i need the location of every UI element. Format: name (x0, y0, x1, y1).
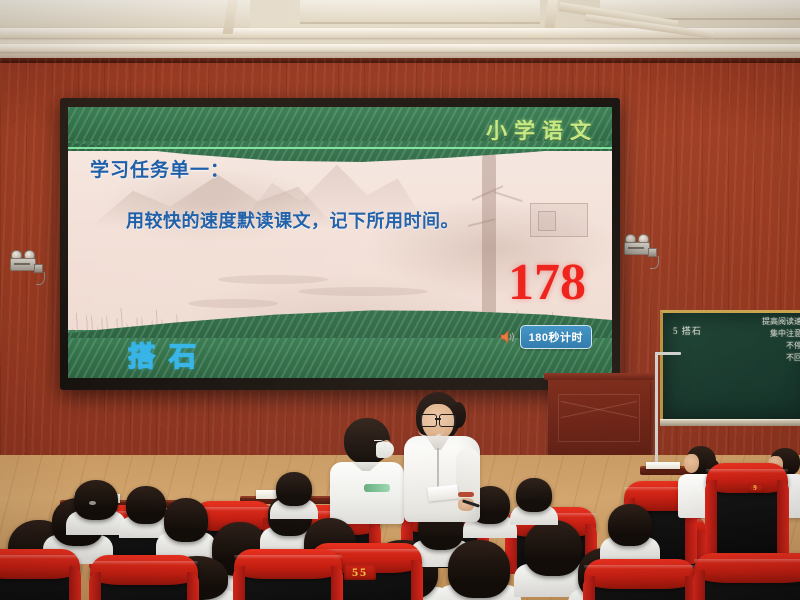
seat-highlight (706, 469, 788, 473)
seat-rim (584, 559, 696, 589)
seat-rim (694, 553, 800, 583)
slide-subject-title: 小学语文 (486, 115, 598, 145)
seat-side (583, 576, 595, 600)
emergency-light-left (8, 246, 42, 280)
audience-student-head (74, 480, 118, 520)
slide-task-body: 用较快的速度默读课文，记下所用时间。 (126, 207, 594, 233)
blackboard-note: 不停读 (786, 340, 800, 351)
emergency-light-body (624, 242, 650, 255)
auditorium-seat[interactable] (700, 560, 800, 600)
student-shirt (330, 462, 404, 524)
auditorium-seat[interactable] (0, 556, 74, 600)
auditorium-seat[interactable] (240, 556, 336, 600)
seat-highlight (234, 555, 342, 559)
blackboard-lesson-label: 5 搭石 (673, 326, 702, 337)
seat-side (69, 566, 81, 600)
ink-cloud-art (218, 275, 328, 284)
speaker-icon (500, 329, 516, 345)
seat-side (233, 566, 245, 600)
audience-student-head (524, 520, 582, 576)
audience-student-head (276, 472, 312, 506)
seat-rim (706, 463, 788, 493)
slide-countdown-value: 178 (508, 257, 586, 309)
standing-student (330, 418, 406, 522)
seat-side (331, 566, 343, 600)
seat-side (89, 572, 101, 600)
ceiling (0, 0, 800, 62)
seat-number-badge: 9 (748, 484, 764, 493)
audience-student-head (126, 486, 166, 524)
slide-task-title: 学习任务单一： (90, 155, 230, 182)
projection-screen[interactable]: 小学语文 学习任务单一： 用较快的速度默读课文，记下所用时间。 178 180秒… (68, 107, 612, 378)
lectern-decor (560, 398, 638, 420)
vent-slot (14, 263, 30, 265)
seat-side (705, 480, 717, 556)
auditorium-seat[interactable] (590, 566, 690, 600)
slide-timer-badge[interactable]: 180秒计时 (500, 325, 592, 349)
seat-highlight (0, 555, 80, 559)
desk-paper (646, 462, 680, 469)
teacher (398, 392, 486, 520)
emergency-light-right (622, 230, 656, 264)
ink-cloud-art (298, 287, 428, 296)
auditorium-seat[interactable]: 9 (712, 470, 782, 556)
ceiling-coffer (300, 0, 540, 24)
timer-label: 180秒计时 (520, 325, 592, 349)
face-mask-strap (374, 440, 386, 448)
student-face (684, 454, 699, 473)
seat-rim (0, 549, 80, 579)
classroom-photo: 小学语文 学习任务单一： 用较快的速度默读课文，记下所用时间。 178 180秒… (0, 0, 800, 600)
ink-cloud-art (188, 299, 278, 308)
projection-screen-frame: 小学语文 学习任务单一： 用较快的速度默读课文，记下所用时间。 178 180秒… (60, 98, 620, 390)
ceiling-coffer (0, 0, 250, 30)
audience-student-head (608, 504, 652, 546)
auditorium-seat[interactable] (96, 562, 192, 600)
seat-number-badge: 55 (344, 564, 376, 580)
lectern (548, 378, 650, 462)
seat-rim (234, 549, 342, 579)
audience-student-head (448, 540, 510, 598)
seat-side (693, 570, 705, 600)
audience-student-head (516, 478, 552, 512)
seat-side (411, 560, 423, 600)
ceiling-beam-vertical (545, 0, 558, 28)
blackboard-note: 提高阅读速度 (762, 316, 800, 327)
chalk-tray (660, 419, 800, 426)
blackboard: 5 搭石 提高阅读速度 集中注意力 不停读 不回读 (660, 310, 800, 420)
seat-side (187, 572, 199, 600)
seat-rim (90, 555, 198, 585)
shirt-print (364, 484, 390, 492)
blackboard-note: 不回读 (786, 352, 800, 363)
wristband (458, 492, 474, 497)
emergency-light-body (10, 258, 36, 271)
vent-slot (628, 247, 644, 249)
seat-highlight (694, 559, 800, 563)
glasses-bridge (435, 418, 441, 420)
audience-student-head (164, 498, 208, 542)
mic-stand-pole (655, 352, 658, 470)
lectern-top (544, 373, 654, 380)
seat-highlight (584, 565, 696, 569)
seat-side (777, 480, 789, 556)
blackboard-note: 集中注意力 (770, 328, 800, 339)
mic-stand-arm (655, 352, 681, 355)
seat-highlight (90, 561, 198, 565)
slide-lesson-title: 搭石 (128, 335, 210, 374)
